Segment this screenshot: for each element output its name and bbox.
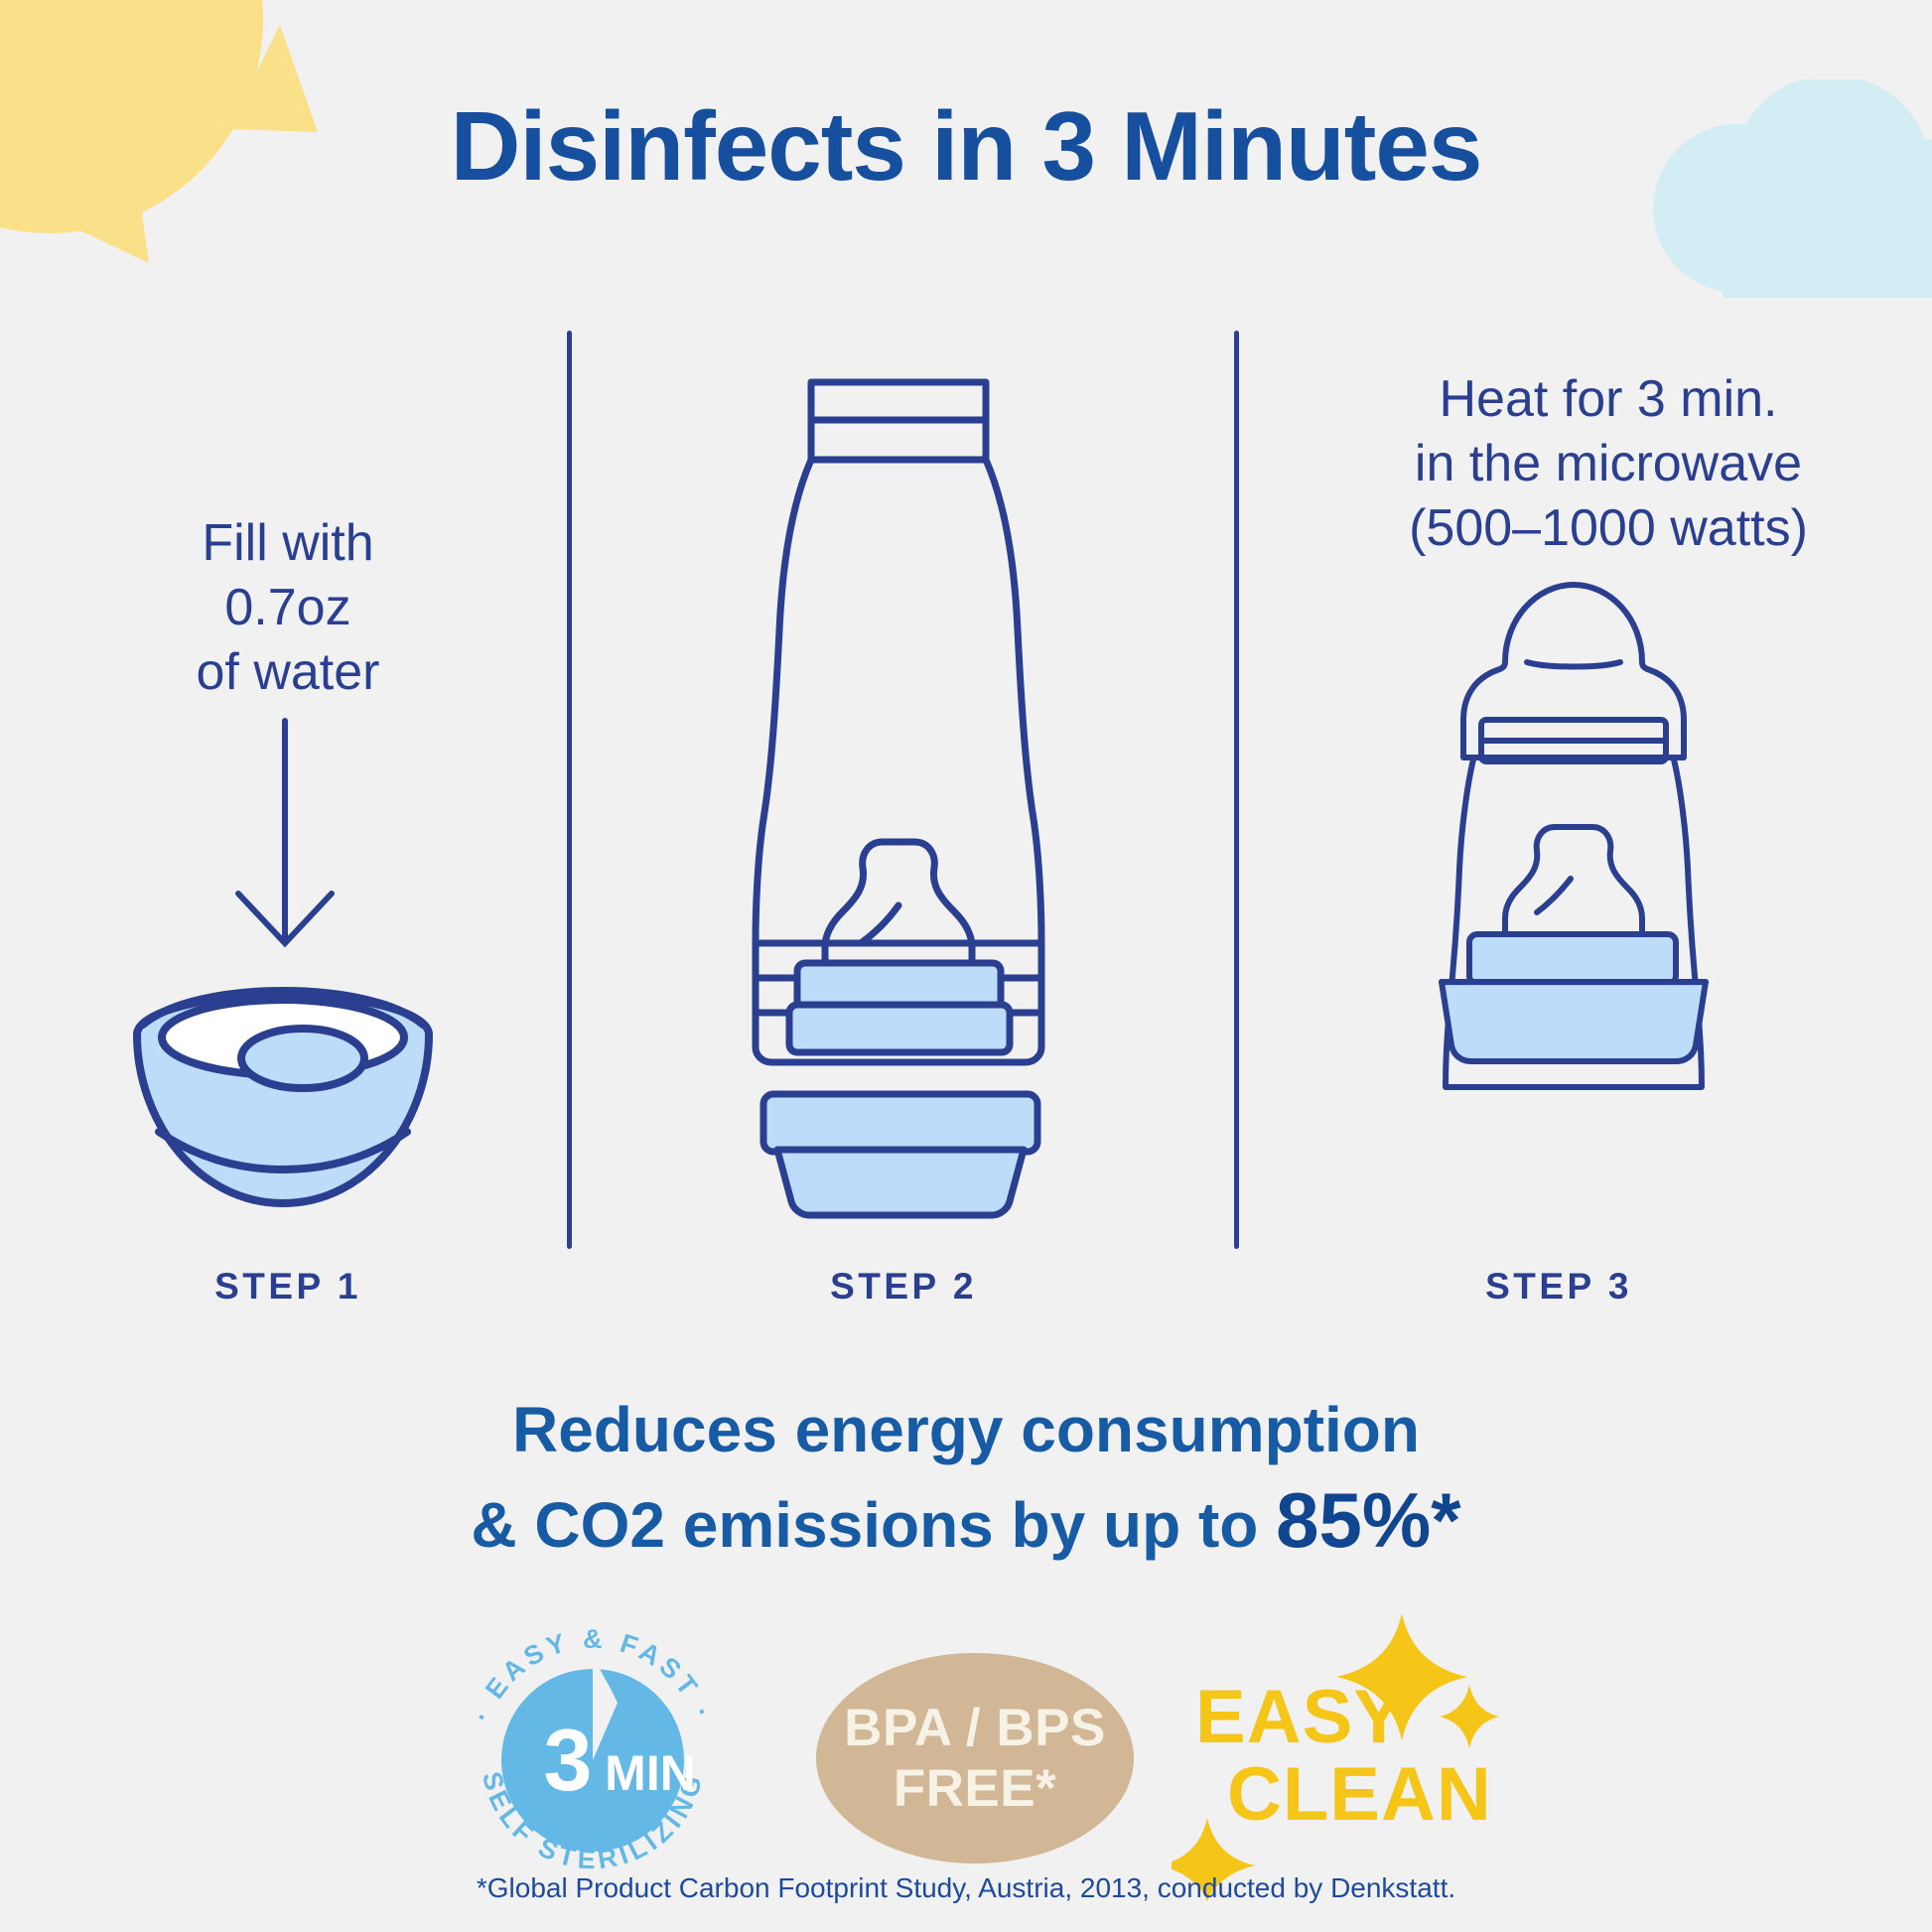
badge-row: · EASY & FAST · SELF STERILIZING 3 MIN B… [0,1603,1932,1901]
easy-clean-text: EASY CLEAN [1172,1679,1499,1833]
step-3-instruction: Heat for 3 min. in the microwave (500–10… [1291,367,1926,561]
column-divider-1 [567,331,572,1249]
step-1-line-2: 0.7oz [60,576,516,640]
three-min-unit: MIN [605,1745,696,1801]
assembled-bottle-icon [1430,571,1718,1216]
three-min-number: 3 [544,1711,593,1809]
claim-line-2-prefix: & CO2 emissions by up to [471,1489,1276,1561]
bowl-with-water-icon [129,983,437,1211]
claim-line-2: & CO2 emissions by up to 85%* [172,1471,1760,1571]
infographic-canvas: Disinfects in 3 Minutes Fill with 0.7oz … [0,0,1932,1932]
claim-line-1: Reduces energy consumption [172,1390,1760,1471]
step-2-label: STEP 2 [715,1266,1092,1308]
step-3-line-1: Heat for 3 min. [1291,367,1926,432]
bpa-free-badge: BPA / BPS FREE* [816,1653,1134,1863]
easy-clean-line-1: EASY [1172,1679,1499,1756]
step-1-label: STEP 1 [99,1266,477,1308]
three-min-badge: · EASY & FAST · SELF STERILIZING 3 MIN [449,1613,737,1901]
step-1-line-1: Fill with [60,511,516,576]
easy-clean-badge: EASY CLEAN [1172,1603,1499,1901]
step-3-label: STEP 3 [1370,1266,1747,1308]
down-arrow-icon [220,715,349,953]
step-3-line-3: (500–1000 watts) [1291,496,1926,561]
energy-claim: Reduces energy consumption & CO2 emissio… [172,1390,1760,1571]
claim-highlight: 85%* [1276,1476,1460,1564]
footnote: *Global Product Carbon Footprint Study, … [0,1872,1932,1904]
easy-clean-line-2: CLEAN [1172,1756,1499,1834]
column-divider-2 [1234,331,1239,1249]
bottle-nipple-and-cap-icon [740,824,1057,1221]
step-3-line-2: in the microwave [1291,432,1926,496]
bpa-line-1: BPA / BPS [844,1698,1106,1758]
step-1-instruction: Fill with 0.7oz of water [60,511,516,705]
page-title: Disinfects in 3 Minutes [0,95,1932,198]
step-1-line-3: of water [60,640,516,705]
bpa-line-2: FREE* [894,1758,1056,1819]
